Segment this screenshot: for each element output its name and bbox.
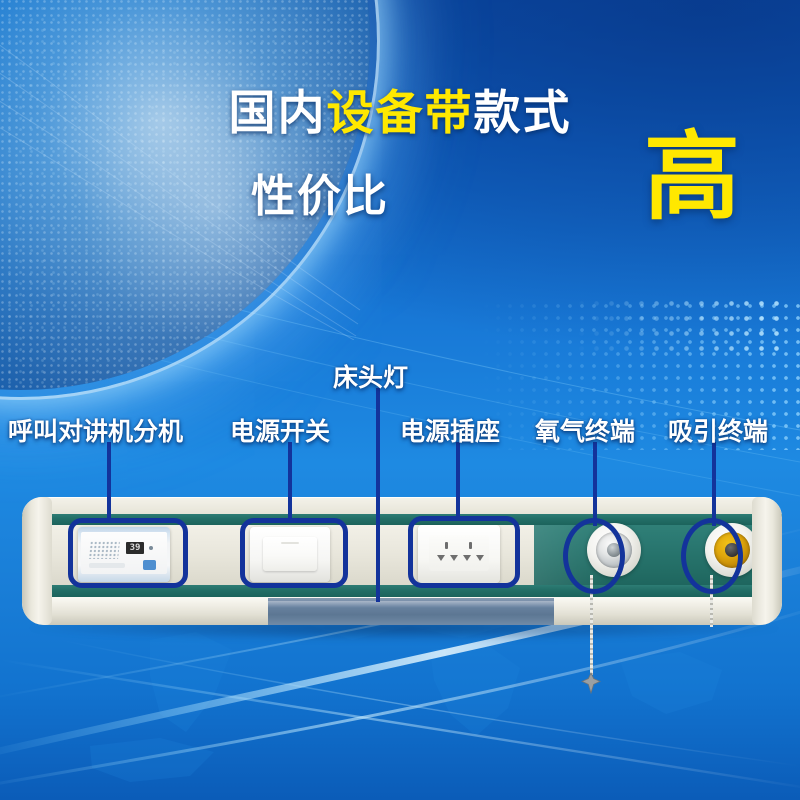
label-bed-lamp: 床头灯 xyxy=(333,358,408,394)
leader-line-oxygen xyxy=(593,442,597,526)
nurse-call-intercom-module[interactable]: 39 xyxy=(78,527,170,582)
headline-line-2: 性价比 高 xyxy=(0,160,800,224)
oxygen-terminal-ring xyxy=(596,532,632,568)
power-outlet-module[interactable] xyxy=(418,525,500,583)
outlet-flat-pin-1 xyxy=(437,555,445,561)
suction-pull-chain[interactable] xyxy=(710,575,713,627)
oxygen-terminal[interactable] xyxy=(587,523,641,577)
speaker-grille-icon xyxy=(88,541,120,559)
label-power-outlet: 电源插座 xyxy=(400,412,500,448)
panel-body: 39 xyxy=(22,497,782,625)
headline-part-1: 国内 xyxy=(229,86,327,139)
label-power-switch: 电源开关 xyxy=(230,412,330,448)
leader-line-suction xyxy=(712,442,716,526)
intercom-display: 39 xyxy=(126,542,144,554)
leader-line-intercom xyxy=(107,442,111,520)
intercom-indicator-led xyxy=(149,546,153,550)
intercom-label-strip xyxy=(89,563,125,568)
suction-terminal-port xyxy=(725,543,739,557)
suction-terminal[interactable] xyxy=(705,523,759,577)
bed-lamp-diffuser-rail xyxy=(268,598,554,625)
headline-block: 国内设备带款式 性价比 高 xyxy=(0,88,800,137)
outlet-faceplate xyxy=(429,535,489,571)
outlet-flat-pin-4 xyxy=(476,555,484,561)
oxygen-terminal-port xyxy=(607,543,621,557)
power-switch-module[interactable] xyxy=(250,527,330,582)
suction-terminal-ring xyxy=(714,532,750,568)
label-intercom: 呼叫对讲机分机 xyxy=(8,412,183,448)
headline-emphasis: 高 xyxy=(644,130,740,226)
poster-stage: 国内设备带款式 性价比 高 呼叫对讲机分机 电源开关 床头灯 电源插座 氧气终端… xyxy=(0,0,800,800)
panel-end-cap-right xyxy=(752,497,782,625)
outlet-flat-pin-2 xyxy=(450,555,458,561)
leader-line-power-switch xyxy=(288,442,292,520)
leader-line-power-outlet xyxy=(456,442,460,518)
panel-end-cap-left xyxy=(22,497,52,625)
label-suction-terminal: 吸引终端 xyxy=(668,412,768,448)
halftone-dot-field-2 xyxy=(574,296,784,356)
pull-cord-weight[interactable] xyxy=(580,672,602,694)
headline-part-3: 款式 xyxy=(474,86,572,139)
leader-line-bed-lamp xyxy=(376,388,380,602)
headline-subtitle: 性价比 xyxy=(251,160,389,224)
switch-rocker[interactable] xyxy=(263,537,317,571)
intercom-call-button[interactable] xyxy=(143,560,156,570)
label-oxygen-terminal: 氧气终端 xyxy=(535,412,635,448)
intercom-faceplate: 39 xyxy=(81,532,167,574)
outlet-live-pin-2 xyxy=(469,542,472,549)
outlet-live-pin-1 xyxy=(445,542,448,549)
panel-stripe-bottom xyxy=(22,585,782,597)
medical-bedhead-panel: 39 xyxy=(22,497,782,637)
panel-stripe-top xyxy=(22,514,782,525)
outlet-flat-pin-3 xyxy=(463,555,471,561)
headline-part-2: 设备带 xyxy=(327,86,474,139)
oxygen-pull-chain[interactable] xyxy=(590,575,593,675)
